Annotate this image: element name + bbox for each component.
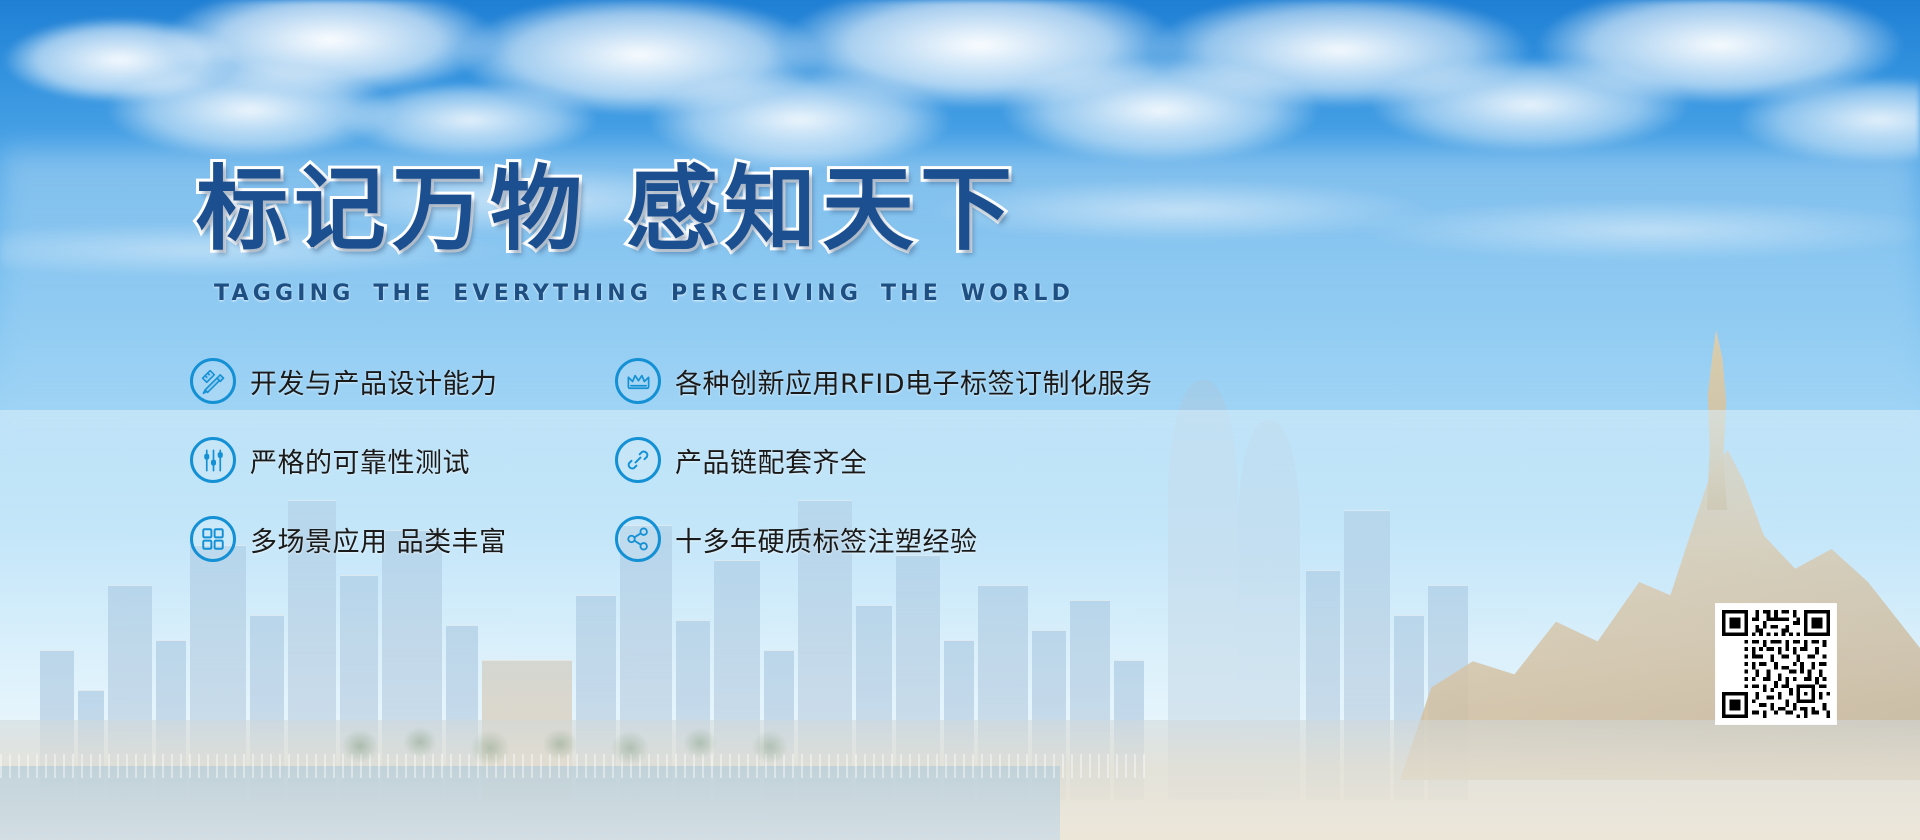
feature-label: 十多年硬质标签注塑经验 <box>675 520 978 559</box>
hero-banner: 标记万物 感知天下 TAGGING THE EVERYTHING PERCEIV… <box>0 0 1920 840</box>
feature-label: 严格的可靠性测试 <box>250 441 470 480</box>
banner-content: 标记万物 感知天下 TAGGING THE EVERYTHING PERCEIV… <box>0 0 1920 840</box>
feature-label: 开发与产品设计能力 <box>250 362 498 401</box>
feature-item-multi-scene: 多场景应用 品类丰富 <box>190 516 507 562</box>
banner-subheadline: TAGGING THE EVERYTHING PERCEIVING THE WO… <box>214 281 1074 306</box>
link-icon <box>615 437 661 483</box>
sliders-icon <box>190 437 236 483</box>
share-icon <box>615 516 661 562</box>
qr-code-image <box>1722 610 1830 718</box>
feature-item-reliability-test: 严格的可靠性测试 <box>190 437 507 483</box>
grid-icon <box>190 516 236 562</box>
feature-column-right: 各种创新应用RFID电子标签订制化服务 产品链配套齐全 <box>615 358 1153 595</box>
feature-item-design: 开发与产品设计能力 <box>190 358 507 404</box>
feature-label: 多场景应用 品类丰富 <box>250 520 507 559</box>
feature-item-molding-experience: 十多年硬质标签注塑经验 <box>615 516 1153 562</box>
feature-label: 产品链配套齐全 <box>675 441 868 480</box>
crown-icon <box>615 358 661 404</box>
banner-headline: 标记万物 感知天下 <box>196 160 1018 259</box>
qr-code[interactable] <box>1716 604 1836 724</box>
pen-ruler-icon <box>190 358 236 404</box>
feature-label: 各种创新应用RFID电子标签订制化服务 <box>675 362 1153 401</box>
feature-column-left: 开发与产品设计能力 严格的可靠性测试 <box>190 358 507 595</box>
feature-item-supply-chain: 产品链配套齐全 <box>615 437 1153 483</box>
feature-item-rfid-customization: 各种创新应用RFID电子标签订制化服务 <box>615 358 1153 404</box>
